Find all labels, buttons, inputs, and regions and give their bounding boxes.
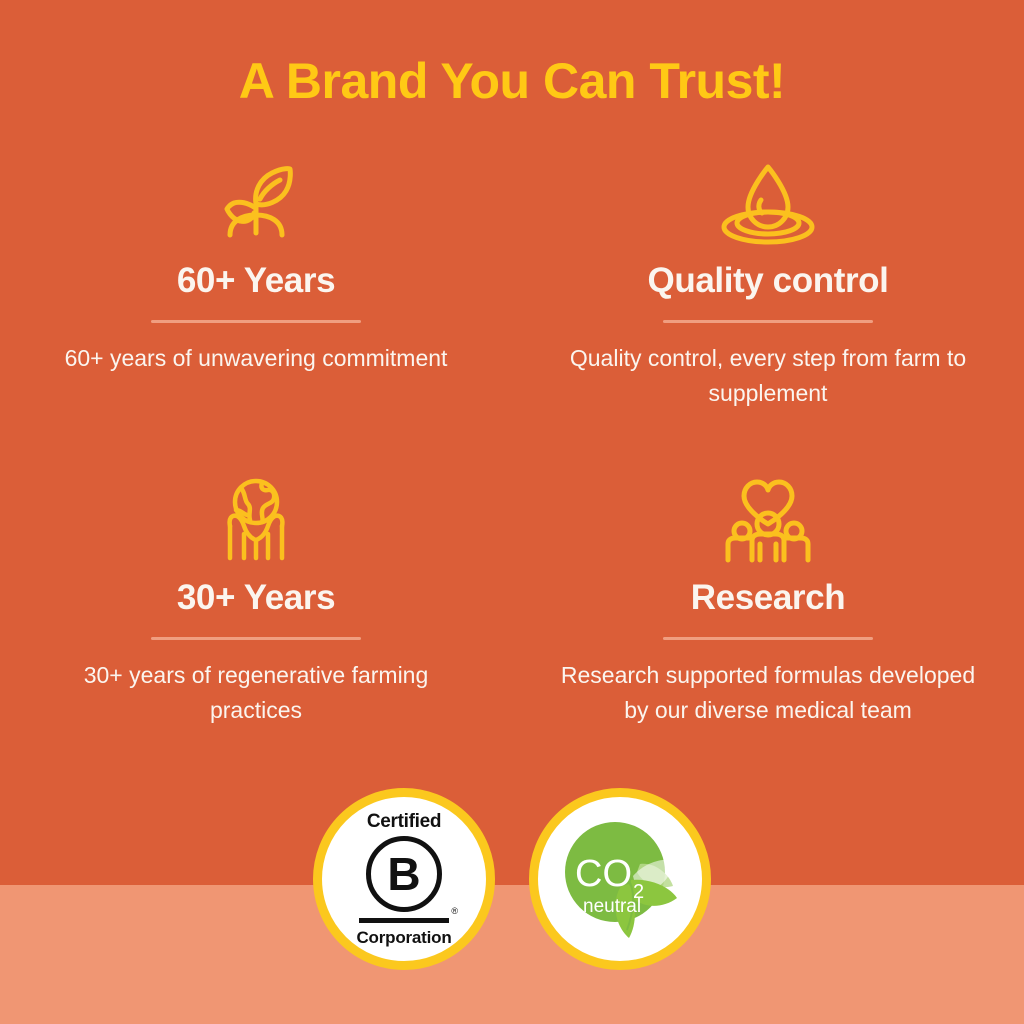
features-row-top: 60+ Years 60+ years of unwavering commit… <box>0 155 1024 412</box>
co2-label: CO <box>575 853 632 895</box>
feature-divider <box>151 320 361 323</box>
feature-card-years-60: 60+ Years 60+ years of unwavering commit… <box>0 155 512 412</box>
feature-heading: 30+ Years <box>177 580 335 617</box>
bcorp-rule-group: ® <box>359 918 449 923</box>
feature-heading: Quality control <box>648 263 889 300</box>
feature-divider <box>151 637 361 640</box>
feature-heading: Research <box>691 580 845 617</box>
b-corp-certification-badge: Certified B ® Corporation <box>313 788 495 970</box>
feature-divider <box>663 320 873 323</box>
seedling-icon <box>210 155 302 251</box>
co2-neutral-badge: CO 2 neutral <box>529 788 711 970</box>
feature-card-years-30: 30+ Years 30+ years of regenerative farm… <box>0 472 512 729</box>
feature-body: Quality control, every step from farm to… <box>558 341 978 412</box>
feature-heading: 60+ Years <box>177 263 335 300</box>
co2-neutral-graphic: CO 2 neutral <box>545 804 695 954</box>
promo-poster: A Brand You Can Trust! 60+ Years 60+ yea… <box>0 0 1024 1024</box>
people-heart-icon <box>718 472 818 568</box>
co2-neutral-label: neutral <box>583 896 641 917</box>
feature-card-research: Research Research supported formulas dev… <box>512 472 1024 729</box>
page-title: A Brand You Can Trust! <box>0 52 1024 110</box>
bcorp-rule <box>359 918 449 923</box>
registered-trademark-icon: ® <box>451 907 458 916</box>
feature-body: Research supported formulas developed by… <box>558 658 978 729</box>
bcorp-certified-label: Certified <box>367 812 441 831</box>
bcorp-b-letter: B <box>366 836 442 912</box>
features-row-bottom: 30+ Years 30+ years of regenerative farm… <box>0 472 1024 729</box>
water-drop-icon <box>718 155 818 251</box>
bcorp-corporation-label: Corporation <box>356 929 451 946</box>
certification-badges: Certified B ® Corporation CO 2 neutral <box>0 788 1024 970</box>
hands-holding-globe-icon <box>210 472 302 568</box>
feature-body: 60+ years of unwavering commitment <box>65 341 448 377</box>
feature-card-quality-control: Quality control Quality control, every s… <box>512 155 1024 412</box>
features-grid: 60+ Years 60+ years of unwavering commit… <box>0 155 1024 729</box>
feature-body: 30+ years of regenerative farming practi… <box>46 658 466 729</box>
feature-divider <box>663 637 873 640</box>
